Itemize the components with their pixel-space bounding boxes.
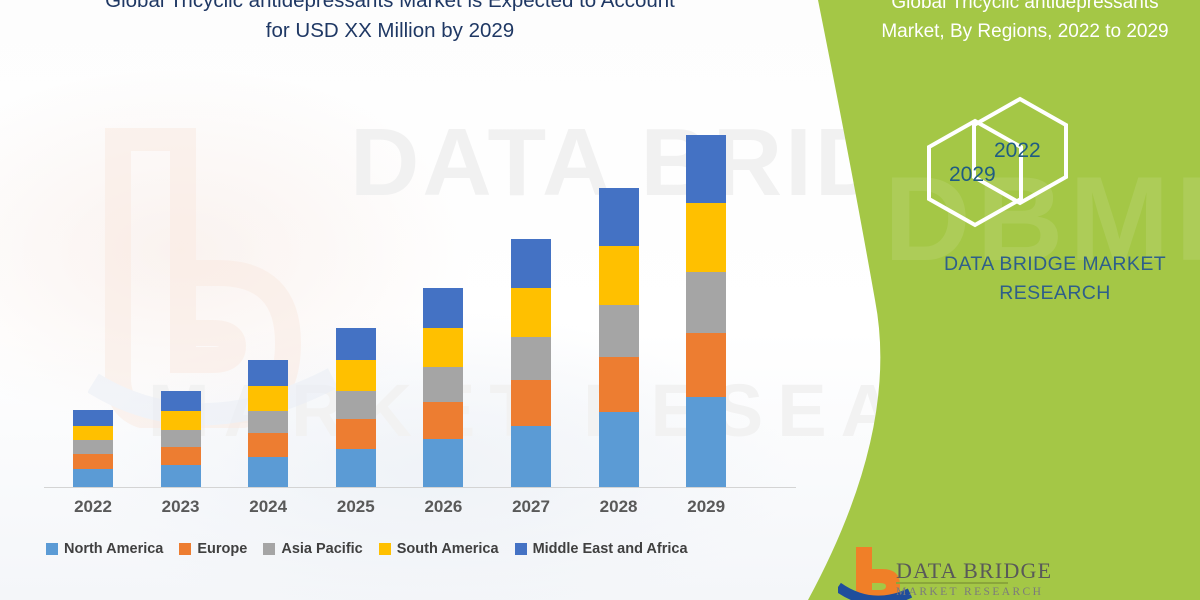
bar-segment[interactable] (248, 386, 288, 411)
x-axis-line (44, 487, 796, 488)
bar-segment[interactable] (599, 246, 639, 305)
legend-item[interactable]: Middle East and Africa (515, 541, 688, 557)
bar-segment[interactable] (336, 328, 376, 360)
bar-2027[interactable] (511, 239, 551, 487)
x-axis-label-2022: 2022 (53, 497, 133, 517)
logo-wordmark: DATA BRIDGE (896, 558, 1052, 584)
panel-title-line-1: Global Tricyclic antidepressants (860, 0, 1190, 17)
bar-segment[interactable] (599, 357, 639, 412)
legend-item[interactable]: South America (379, 541, 499, 557)
x-axis-label-2023: 2023 (141, 497, 221, 517)
hexagon-label-2029: 2029 (949, 163, 996, 187)
bar-segment[interactable] (686, 203, 726, 272)
bar-2025[interactable] (336, 328, 376, 487)
bar-segment[interactable] (73, 426, 113, 440)
legend-item[interactable]: Asia Pacific (263, 541, 362, 557)
bar-segment[interactable] (161, 391, 201, 411)
x-axis-label-2026: 2026 (403, 497, 483, 517)
bar-segment[interactable] (423, 328, 463, 367)
legend-label: Europe (197, 541, 247, 557)
bar-2022[interactable] (73, 410, 113, 487)
bar-segment[interactable] (511, 239, 551, 288)
bar-segment[interactable] (161, 430, 201, 447)
bar-segment[interactable] (336, 360, 376, 391)
chart-legend: North AmericaEuropeAsia PacificSouth Ame… (46, 541, 688, 557)
bar-segment[interactable] (599, 305, 639, 357)
stacked-bar-chart: 20222023202420252026202720282029 (0, 0, 800, 600)
bar-segment[interactable] (511, 426, 551, 487)
legend-swatch-icon (46, 543, 58, 555)
legend-swatch-icon (379, 543, 391, 555)
bar-segment[interactable] (161, 411, 201, 430)
logo-subtitle: MARKET RESEARCH (896, 586, 1043, 598)
bar-segment[interactable] (336, 419, 376, 449)
legend-label: North America (64, 541, 163, 557)
bar-segment[interactable] (423, 439, 463, 487)
bar-segment[interactable] (423, 288, 463, 328)
bar-segment[interactable] (161, 447, 201, 465)
bar-2029[interactable] (686, 135, 726, 487)
legend-item[interactable]: Europe (179, 541, 247, 557)
bar-segment[interactable] (511, 380, 551, 426)
panel-title-line-2: Market, By Regions, 2022 to 2029 (860, 17, 1190, 46)
hexagon-label-2022: 2022 (994, 139, 1041, 163)
bar-segment[interactable] (248, 360, 288, 386)
legend-swatch-icon (179, 543, 191, 555)
x-axis-label-2024: 2024 (228, 497, 308, 517)
bar-segment[interactable] (511, 288, 551, 337)
x-axis-label-2028: 2028 (579, 497, 659, 517)
legend-label: South America (397, 541, 499, 557)
bar-segment[interactable] (248, 433, 288, 457)
infographic-root: DATA BRIDGE MARKET RESEARCH Global Tricy… (0, 0, 1200, 600)
bar-segment[interactable] (73, 469, 113, 487)
bar-segment[interactable] (336, 391, 376, 419)
x-axis-label-2029: 2029 (666, 497, 746, 517)
bar-segment[interactable] (686, 135, 726, 203)
bar-2024[interactable] (248, 360, 288, 487)
bar-segment[interactable] (161, 465, 201, 487)
legend-item[interactable]: North America (46, 541, 163, 557)
bar-segment[interactable] (511, 337, 551, 380)
panel-brand-line-1: DATA BRIDGE MARKET (905, 250, 1200, 279)
bar-segment[interactable] (73, 410, 113, 426)
x-axis-label-2025: 2025 (316, 497, 396, 517)
panel-brand-line-2: RESEARCH (905, 279, 1200, 308)
logo-divider (896, 582, 1008, 584)
bar-segment[interactable] (686, 272, 726, 333)
bar-2028[interactable] (599, 188, 639, 487)
bar-segment[interactable] (73, 454, 113, 469)
bar-segment[interactable] (423, 367, 463, 402)
panel-brand: DATA BRIDGE MARKET RESEARCH (905, 250, 1200, 308)
bar-segment[interactable] (599, 412, 639, 487)
bar-2026[interactable] (423, 288, 463, 487)
bar-segment[interactable] (423, 402, 463, 439)
legend-swatch-icon (263, 543, 275, 555)
bar-segment[interactable] (686, 333, 726, 397)
bar-segment[interactable] (599, 188, 639, 246)
legend-label: Middle East and Africa (533, 541, 688, 557)
panel-title: Global Tricyclic antidepressants Market,… (860, 0, 1190, 46)
bar-segment[interactable] (336, 449, 376, 487)
x-axis-label-2027: 2027 (491, 497, 571, 517)
bar-segment[interactable] (73, 440, 113, 454)
legend-label: Asia Pacific (281, 541, 362, 557)
legend-swatch-icon (515, 543, 527, 555)
hexagon-badges: 2022 2029 (920, 95, 1120, 235)
bar-2023[interactable] (161, 391, 201, 487)
bar-segment[interactable] (248, 411, 288, 433)
bar-segment[interactable] (686, 397, 726, 487)
bar-segment[interactable] (248, 457, 288, 487)
